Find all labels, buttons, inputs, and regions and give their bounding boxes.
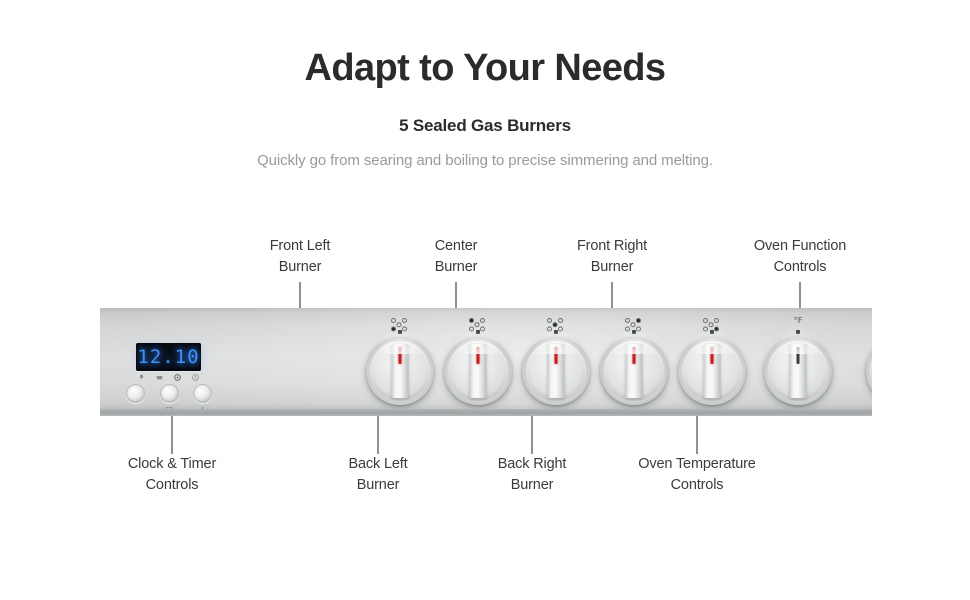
plus-button-label: +	[199, 406, 206, 414]
plus-button[interactable]: +	[193, 384, 212, 414]
heading-block: Adapt to Your Needs 5 Sealed Gas Burners…	[0, 0, 970, 172]
knob-pointer	[633, 347, 636, 364]
callout-oven-temperature-leader-line	[696, 416, 698, 454]
callout-oven-temperature-text: Oven Temperature Controls	[587, 454, 807, 495]
select-button[interactable]: □	[160, 384, 179, 414]
page-title: Adapt to Your Needs	[0, 48, 970, 90]
plus-button-face[interactable]	[193, 384, 212, 403]
alarm-bell-icon	[138, 374, 145, 381]
timer-fan-icon	[174, 374, 181, 381]
callout-clock-timer: Clock & Timer Controls	[62, 454, 282, 495]
callout-front-right-burner-leader-line	[611, 282, 613, 308]
knob-pointer	[797, 347, 800, 364]
callout-oven-temperature: Oven Temperature Controls	[587, 454, 807, 495]
oven-temperature-knob[interactable]: °F	[758, 308, 838, 416]
select-button-face[interactable]	[160, 384, 179, 403]
minus-button-label: –	[134, 406, 138, 414]
knob-index-dot	[398, 330, 402, 334]
knob-index-dot	[796, 330, 800, 334]
front-left-burner-knob[interactable]	[360, 308, 440, 416]
clock-icon	[192, 374, 199, 381]
select-button-label: □	[165, 406, 173, 414]
clock-timer-display: 12.10	[136, 343, 201, 371]
page-description: Quickly go from searing and boiling to p…	[0, 150, 970, 172]
center-burner-knob[interactable]	[516, 308, 596, 416]
callout-back-right-burner-leader-line	[531, 416, 533, 454]
cooking-pot-icon	[156, 374, 163, 381]
back-right-burner-knob[interactable]	[594, 308, 674, 416]
degree-fahrenheit-label: °F	[794, 316, 803, 325]
callout-front-left-burner-leader-line	[299, 282, 301, 308]
oven-temperature-knob-dial[interactable]	[764, 337, 832, 405]
oven-function-knob-dial[interactable]	[866, 337, 872, 405]
back-right-burner-knob-dial[interactable]	[600, 337, 668, 405]
back-left-burner-knob[interactable]	[438, 308, 518, 416]
callout-clock-timer-leader-line	[171, 416, 173, 454]
callout-clock-timer-text: Clock & Timer Controls	[62, 454, 282, 495]
callout-center-burner-leader-line	[455, 282, 457, 308]
knob-index-dot	[554, 330, 558, 334]
clock-timer-button-row: –□+	[126, 384, 212, 414]
knob-pointer	[477, 347, 480, 364]
range-control-panel: 12.10 –□+ °F	[100, 308, 872, 416]
back-left-burner-knob-dial[interactable]	[444, 337, 512, 405]
center-burner-knob-dial[interactable]	[522, 337, 590, 405]
display-value: 12.10	[137, 346, 199, 368]
appliance-feature-diagram: Adapt to Your Needs 5 Sealed Gas Burners…	[0, 0, 970, 600]
knob-ring	[870, 341, 872, 401]
callout-front-right-burner-text: Front Right Burner	[502, 236, 722, 277]
knob-pointer	[555, 347, 558, 364]
minus-button-face[interactable]	[126, 384, 145, 403]
knob-index-dot	[710, 330, 714, 334]
callout-oven-function: Oven Function Controls	[690, 236, 910, 277]
page-subtitle: 5 Sealed Gas Burners	[0, 116, 970, 136]
front-right-burner-knob-dial[interactable]	[678, 337, 746, 405]
knob-pointer	[711, 347, 714, 364]
callout-oven-function-text: Oven Function Controls	[690, 236, 910, 277]
knob-index-dot	[476, 330, 480, 334]
oven-function-knob[interactable]	[860, 308, 872, 416]
knob-index-dot	[632, 330, 636, 334]
display-indicator-row	[136, 374, 201, 381]
front-right-burner-knob[interactable]	[672, 308, 752, 416]
front-left-burner-knob-dial[interactable]	[366, 337, 434, 405]
knob-pointer	[399, 347, 402, 364]
callout-front-right-burner: Front Right Burner	[502, 236, 722, 277]
minus-button[interactable]: –	[126, 384, 145, 414]
callout-oven-function-leader-line	[799, 282, 801, 308]
callout-back-left-burner-leader-line	[377, 416, 379, 454]
